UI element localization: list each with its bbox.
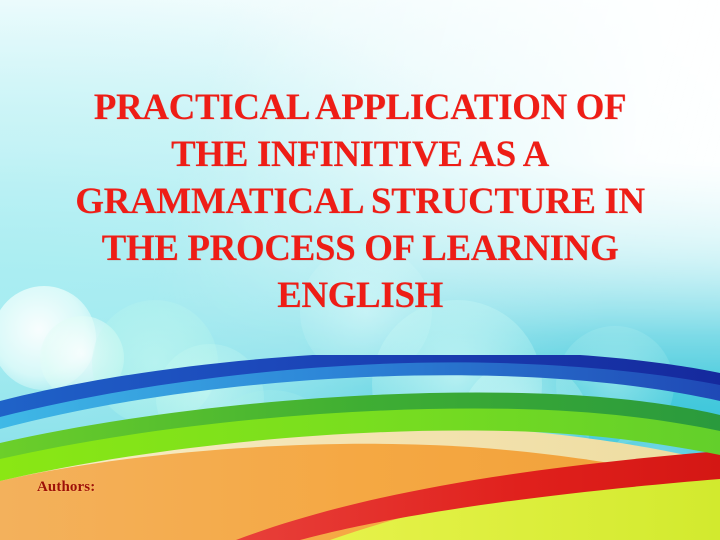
decorative-ribbon	[0, 355, 720, 540]
authors-label: Authors:	[37, 479, 95, 496]
title-slide: PRACTICAL APPLICATION OF THE INFINITIVE …	[0, 0, 720, 540]
